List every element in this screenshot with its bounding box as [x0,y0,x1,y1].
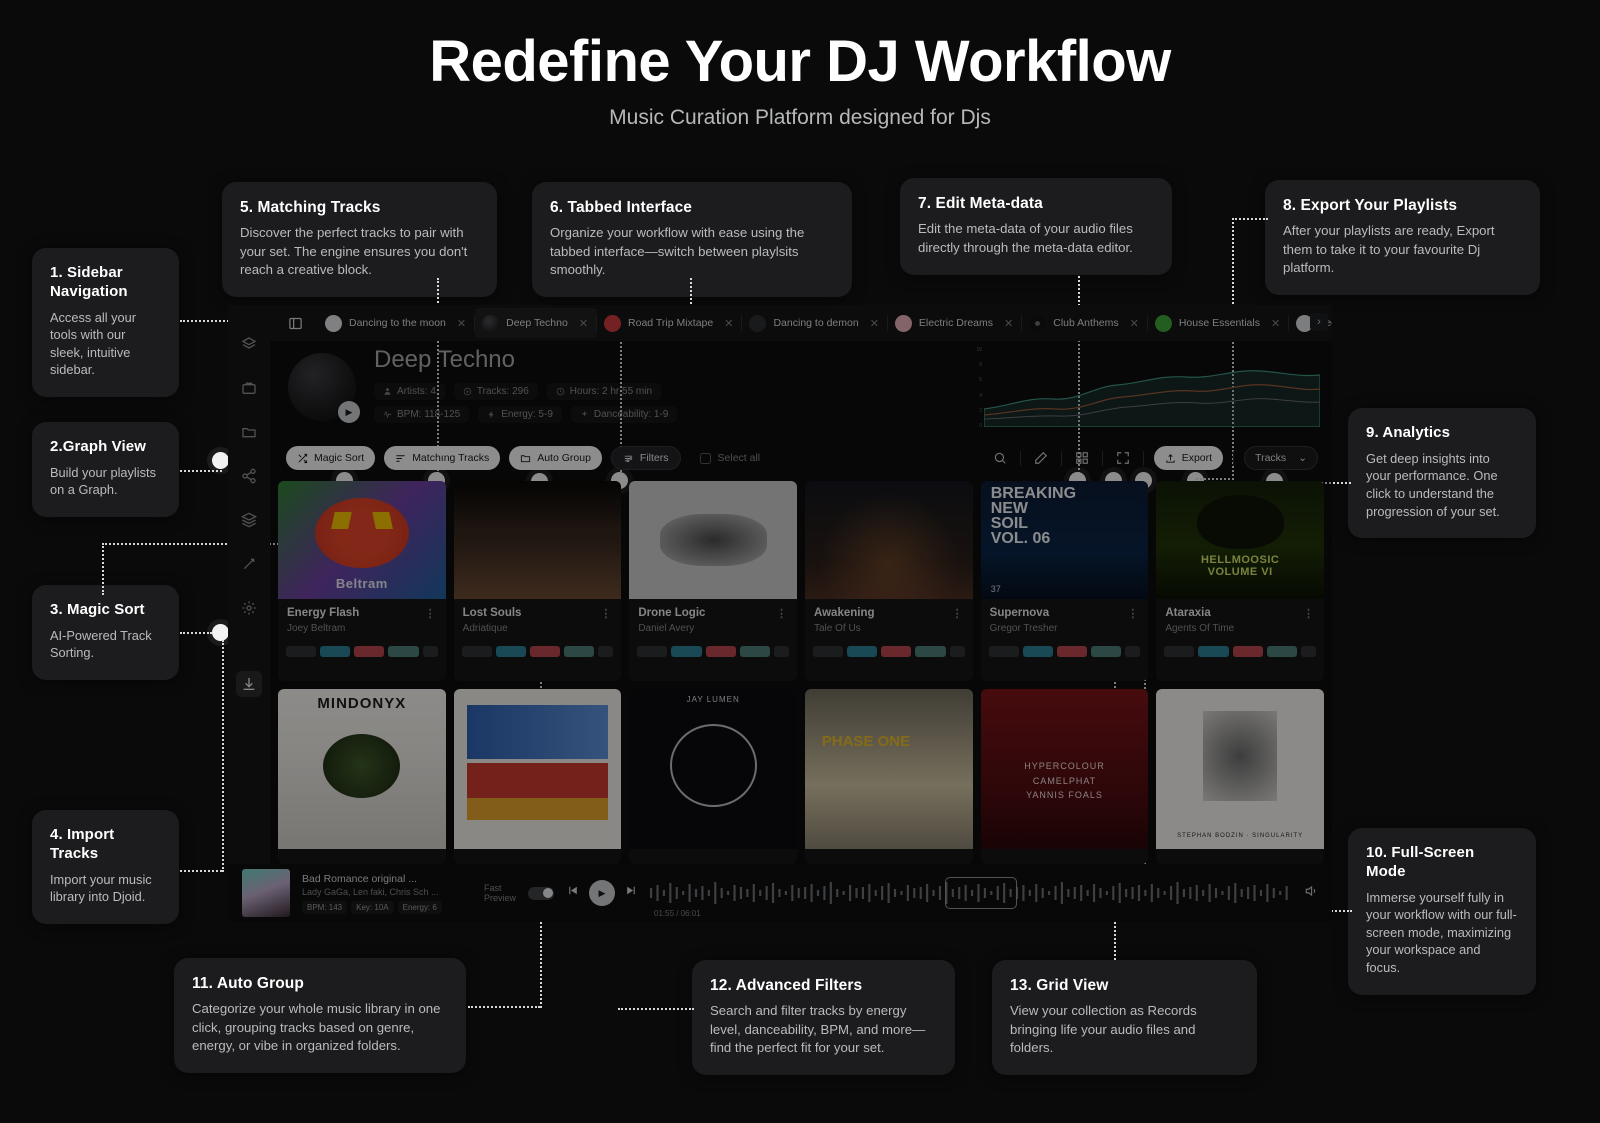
connector-line-2 [180,470,222,472]
track-card[interactable]: JAY LUMEN [629,689,797,864]
annotation-body: After your playlists are ready, Export t… [1283,222,1522,277]
export-icon [1165,453,1176,464]
previous-icon[interactable] [566,884,579,902]
annotation-card-2: 2.Graph View Build your playlists on a G… [32,422,179,517]
annotation-title: 12. Advanced Filters [710,976,937,995]
chevron-down-icon: ⌄ [1298,452,1307,464]
tab-3[interactable]: Dancing to demon ✕ [742,308,887,338]
annotation-title: 4. Import Tracks [50,826,161,864]
annotation-title: 13. Grid View [1010,976,1239,995]
grid-view-icon[interactable] [1072,448,1092,468]
connector-dot-2 [212,452,229,469]
connector-line-11 [468,1006,540,1008]
track-info: Drone Logic⋮ Daniel Avery [629,599,797,640]
stack-icon[interactable] [236,507,262,533]
tab-6[interactable]: House Essentials ✕ [1148,308,1289,338]
album-artwork: MINDONYX [278,689,446,849]
annotation-card-6: 6. Tabbed Interface Organize your workfl… [532,182,852,297]
track-title: Drone Logic [638,607,705,619]
close-icon[interactable]: ✕ [1004,317,1013,330]
tab-label: Road Trip Mixtape [628,317,713,329]
briefcase-icon[interactable] [236,375,262,401]
annotation-body: View your collection as Records bringing… [1010,1002,1239,1057]
track-title: Supernova [990,607,1049,619]
tab-0[interactable]: Dancing to the moon ✕ [318,308,475,338]
album-artwork [454,481,622,599]
analytics-y-axis: 10 8 6 4 2 0 [968,347,982,429]
tag-energy: Energy: 6 [398,901,442,914]
more-icon[interactable]: ⋮ [1127,607,1139,620]
page-title: Redefine Your DJ Workflow [0,30,1600,94]
close-icon[interactable]: ✕ [457,317,466,330]
page-header: Redefine Your DJ Workflow Music Curation… [0,30,1600,130]
track-card[interactable]: STEPHAN BODZIN · SINGULARITY [1156,689,1324,864]
track-artist: Agents Of Time [1165,623,1315,634]
track-card[interactable]: BREAKINGNEWSOILVOL. 06 37 Supernova⋮ Gre… [981,481,1149,681]
edit-metadata-icon[interactable] [1031,448,1051,468]
tab-label: Dancing to the moon [349,317,446,329]
annotation-body: Edit the meta-data of your audio files d… [918,220,1154,256]
track-attribute-chips [629,640,797,666]
more-icon[interactable]: ⋮ [425,607,437,620]
search-icon[interactable] [990,448,1010,468]
checkbox-icon[interactable] [700,453,711,464]
album-artwork: HYPERCOLOURCAMELPHATYANNIS FOALS [981,689,1149,849]
toolbar-right-group[interactable]: Export Tracks ⌄ [990,446,1318,470]
annotation-body: Build your playlists on a Graph. [50,464,161,499]
album-artwork: HELLMOOSICVOLUME VI [1156,481,1324,599]
close-icon[interactable]: ✕ [1130,317,1139,330]
annotation-card-10: 10. Full-Screen Mode Immerse yourself fu… [1348,828,1536,995]
close-icon[interactable]: ✕ [870,317,879,330]
album-artwork [454,689,622,849]
album-artwork: JAY LUMEN [629,689,797,849]
wand-icon[interactable] [236,551,262,577]
tab-artwork [1029,315,1046,332]
waveform-selection[interactable] [945,877,1017,909]
annotation-card-13: 13. Grid View View your collection as Re… [992,960,1257,1075]
annotation-card-5: 5. Matching Tracks Discover the perfect … [222,182,497,297]
tab-1[interactable]: Deep Techno ✕ [475,308,597,338]
more-icon[interactable]: ⋮ [776,607,788,620]
annotation-title: 8. Export Your Playlists [1283,196,1522,215]
layers-icon[interactable] [236,331,262,357]
divider [1143,451,1144,466]
annotation-title: 6. Tabbed Interface [550,198,834,217]
now-playing-title: Bad Romance original ... [302,873,472,885]
now-playing-tags: BPM: 143 Key: 10A Energy: 6 [302,901,472,914]
annotation-card-11: 11. Auto Group Categorize your whole mus… [174,958,466,1073]
stat-bpm: BPM: 118-125 [374,406,469,423]
annotation-body: Get deep insights into your performance.… [1366,450,1518,521]
track-info: Supernova⋮ Gregor Tresher [981,599,1149,640]
auto-group-button[interactable]: Auto Group [509,446,602,470]
app-window-screenshot: Dancing to the moon ✕ Deep Techno ✕ Road… [228,305,1332,922]
tab-label: House Essentials [1179,317,1260,329]
annotation-card-8: 8. Export Your Playlists After your play… [1265,180,1540,295]
connector-line-8c [1196,478,1234,480]
sparkle-icon [580,410,589,419]
connector-line-8 [1232,218,1268,220]
now-playing-info: Bad Romance original ... Lady GaGa, Len … [302,873,472,914]
track-attribute-chips [1156,640,1324,666]
track-card[interactable]: MINDONYX [278,689,446,864]
track-card[interactable]: PHASE ONE [805,689,973,864]
tab-artwork [482,315,499,332]
album-artwork [629,481,797,599]
now-playing-artwork [242,869,290,917]
connector-line-3d [180,632,212,634]
tab-artwork [604,315,621,332]
stat-tracks: Tracks: 296 [454,383,538,400]
album-artwork: BREAKINGNEWSOILVOL. 06 37 [981,481,1149,599]
connector-dot-3 [212,624,229,641]
export-button[interactable]: Export [1154,446,1223,470]
shuffle-icon [297,453,308,464]
analytics-sparkline [984,347,1320,427]
annotation-card-12: 12. Advanced Filters Search and filter t… [692,960,955,1075]
tab-artwork [749,315,766,332]
album-artwork: PHASE ONE [805,689,973,849]
track-artist: Gregor Tresher [990,623,1140,634]
tab-label: Deep Techno [506,317,568,329]
track-artist: Adriatique [463,623,613,634]
tab-label: Electric Dreams [919,317,993,329]
annotation-body: AI-Powered Track Sorting. [50,627,161,662]
tab-5[interactable]: Club Anthems ✕ [1022,308,1148,338]
tab-artwork [325,315,342,332]
sidebar-navigation[interactable] [228,305,270,922]
annotation-card-3: 3. Magic Sort AI-Powered Track Sorting. [32,585,179,680]
track-info: Lost Souls⋮ Adriatique [454,599,622,640]
tab-4[interactable]: Electric Dreams ✕ [888,308,1022,338]
album-artwork [805,481,973,599]
close-icon[interactable]: ✕ [1271,317,1280,330]
connector-line-3b [102,543,104,595]
annotation-body: Categorize your whole music library in o… [192,1000,448,1055]
track-title: Ataraxia [1165,607,1210,619]
close-icon[interactable]: ✕ [724,317,733,330]
track-attribute-chips [805,640,973,666]
annotation-title: 5. Matching Tracks [240,198,479,217]
tab-label: Club Anthems [1053,317,1118,329]
person-icon [383,387,392,396]
artwork-label: Beltram [278,576,446,591]
toolbar[interactable]: Magic Sort Matchıng Tracks Auto Group Fi… [270,441,1332,475]
stat-artists: Artists: 4 [374,383,445,400]
playback-controls[interactable]: ▶ [566,880,638,906]
magic-sort-button[interactable]: Magic Sort [286,446,375,470]
next-icon[interactable] [625,884,638,902]
more-icon[interactable]: ⋮ [1303,607,1315,620]
track-info: Energy Flash⋮ Joey Beltram [278,599,446,640]
divider [1061,451,1062,466]
annotation-body: Access all your tools with our sleek, in… [50,309,161,380]
track-title: Awakening [814,607,875,619]
track-card[interactable]: HELLMOOSICVOLUME VI Ataraxia⋮ Agents Of … [1156,481,1324,681]
track-card[interactable] [454,689,622,864]
track-attribute-chips [278,640,446,666]
playlist-title: Deep Techno [374,346,677,374]
matching-tracks-button[interactable]: Matchıng Tracks [384,446,500,470]
filters-button[interactable]: Filters [611,446,681,470]
tab-2[interactable]: Road Trip Mixtape ✕ [597,308,742,338]
track-info: Awakening⋮ Tale Of Us [805,599,973,640]
annotation-body: Discover the perfect tracks to pair with… [240,224,479,279]
divider [1102,451,1103,466]
tab-artwork [895,315,912,332]
fast-preview-toggle[interactable] [528,887,554,900]
now-playing-artists: Lady GaGa, Len faki, Chris Sch ... [302,887,472,897]
graph-icon[interactable] [236,463,262,489]
wave-icon [383,410,392,419]
track-title: Lost Souls [463,607,522,619]
playback-time: 01:55 / 06:01 [654,909,701,918]
track-card[interactable]: Lost Souls⋮ Adriatique [454,481,622,681]
track-artist: Tale Of Us [814,623,964,634]
track-attribute-chips [981,640,1149,666]
annotation-card-7: 7. Edit Meta-data Edit the meta-data of … [900,178,1172,275]
playlist-stats-row-2: BPM: 118-125 Energy: 5-9 Danceability: 1… [374,406,677,423]
track-artist: Joey Beltram [287,623,437,634]
annotation-card-1: 1. Sidebar Navigation Access all your to… [32,248,179,397]
track-artist: Daniel Avery [638,623,788,634]
analytics-chart[interactable]: 10 8 6 4 2 0 [968,347,1320,429]
page-subtitle: Music Curation Platform designed for Djs [0,106,1600,130]
track-attribute-chips [454,640,622,666]
annotation-body: Organize your workflow with ease using t… [550,224,834,279]
track-card[interactable]: Beltram Energy Flash⋮ Joey Beltram [278,481,446,681]
disc-icon [463,387,472,396]
more-icon[interactable]: ⋮ [600,607,612,620]
annotation-body: Import your music library into Djoid. [50,871,161,906]
clock-icon [556,387,565,396]
track-card[interactable]: HYPERCOLOURCAMELPHATYANNIS FOALS [981,689,1149,864]
tag-bpm: BPM: 143 [302,901,347,914]
next-tab-icon[interactable]: › [1310,313,1328,331]
player-bar[interactable]: Bad Romance original ... Lady GaGa, Len … [228,864,1332,922]
annotation-body: Search and filter tracks by energy level… [710,1002,937,1057]
sliders-icon [395,453,406,464]
track-grid[interactable]: Beltram Energy Flash⋮ Joey Beltram Lost [278,481,1324,864]
track-card[interactable]: Drone Logic⋮ Daniel Avery [629,481,797,681]
connector-line-4b [222,640,224,872]
album-artwork: STEPHAN BODZIN · SINGULARITY [1156,689,1324,849]
connector-line-12 [618,1008,694,1010]
bolt-icon [487,410,496,419]
album-artwork: Beltram [278,481,446,599]
gear-icon[interactable] [236,595,262,621]
annotation-card-4: 4. Import Tracks Import your music libra… [32,810,179,924]
folder-icon[interactable] [236,419,262,445]
track-info: Ataraxia⋮ Agents Of Time [1156,599,1324,640]
play-icon[interactable]: ▶ [338,401,360,423]
annotation-title: 9. Analytics [1366,424,1518,443]
annotation-title: 10. Full-Screen Mode [1366,844,1518,882]
divider [1233,451,1234,466]
toggle-panel-icon[interactable] [282,312,308,334]
annotation-title: 1. Sidebar Navigation [50,264,161,302]
playlist-stats-row-1: Artists: 4 Tracks: 296 Hours: 2 hr 55 mi… [374,383,677,400]
track-title: Energy Flash [287,607,359,619]
filter-icon [623,453,634,464]
download-icon[interactable] [236,671,262,697]
divider [1020,451,1021,466]
track-card[interactable]: Awakening⋮ Tale Of Us [805,481,973,681]
close-icon[interactable]: ✕ [579,317,588,330]
annotation-title: 3. Magic Sort [50,601,161,620]
volume-icon[interactable] [1304,884,1318,903]
stat-danceability: Danceability: 1-9 [571,406,677,423]
annotation-body: Immerse yourself fully in your workflow … [1366,889,1518,977]
view-select[interactable]: Tracks ⌄ [1244,446,1318,470]
fullscreen-icon[interactable] [1113,448,1133,468]
stat-energy: Energy: 5-9 [478,406,562,423]
more-icon[interactable]: ⋮ [952,607,964,620]
tab-label: Dancing to demon [773,317,858,329]
play-button[interactable]: ▶ [589,880,615,906]
folder-plus-icon [520,453,531,464]
waveform[interactable]: 01:55 / 06:01 [650,878,1292,908]
tab-artwork [1155,315,1172,332]
fast-preview-label: FastPreview [484,883,516,904]
select-all-checkbox[interactable]: Select all [700,452,761,464]
tag-key: Key: 10A [351,901,393,914]
connector-line-4 [180,870,222,872]
annotation-title: 2.Graph View [50,438,161,457]
annotation-title: 7. Edit Meta-data [918,194,1154,213]
tab-bar[interactable]: Dancing to the moon ✕ Deep Techno ✕ Road… [270,305,1332,341]
stat-hours: Hours: 2 hr 55 min [547,383,661,400]
annotation-card-9: 9. Analytics Get deep insights into your… [1348,408,1536,538]
annotation-title: 11. Auto Group [192,974,448,993]
playlist-cover: ▶ [288,353,356,421]
